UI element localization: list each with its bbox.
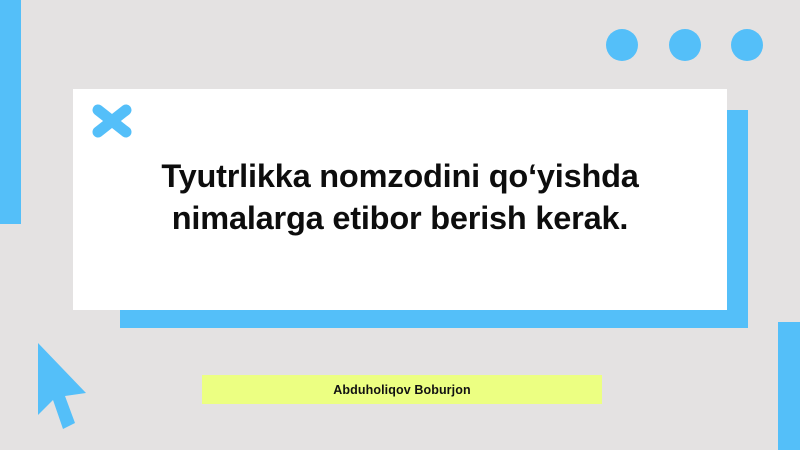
slide-title-line-2: nimalarga etibor berish kerak.: [91, 197, 709, 239]
author-name-bar: Abduholiqov Boburjon: [202, 375, 602, 404]
decor-dot-2: [669, 29, 701, 61]
decor-bar-left: [0, 0, 21, 224]
slide-canvas: Tyutrlikka nomzodini qo‘yishda nimalarga…: [0, 0, 800, 450]
decor-bar-bottom-right: [778, 322, 800, 450]
decor-dot-3: [731, 29, 763, 61]
decor-dot-1: [606, 29, 638, 61]
close-x-icon[interactable]: [90, 99, 134, 143]
slide-title: Tyutrlikka nomzodini qo‘yishda nimalarga…: [73, 155, 727, 240]
mouse-cursor-icon: [36, 341, 88, 433]
content-card: Tyutrlikka nomzodini qo‘yishda nimalarga…: [73, 89, 727, 310]
author-name-label: Abduholiqov Boburjon: [333, 383, 470, 397]
slide-title-line-1: Tyutrlikka nomzodini qo‘yishda: [91, 155, 709, 197]
